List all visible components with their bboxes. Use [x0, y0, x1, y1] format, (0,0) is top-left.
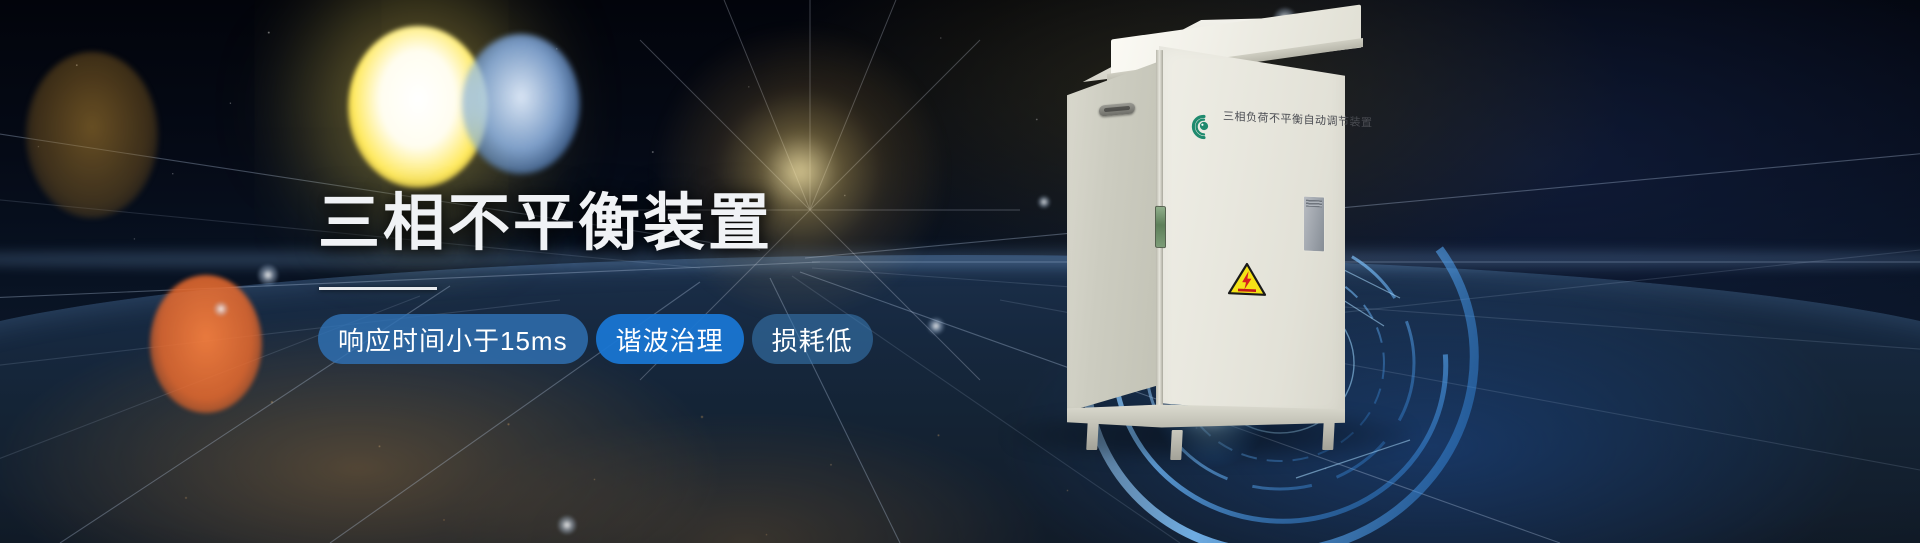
bokeh-orb-amber [26, 52, 158, 218]
feature-tag-list: 响应时间小于15ms 谐波治理 损耗低 [318, 314, 1078, 364]
cabinet-door-latch-icon [1155, 206, 1166, 248]
bokeh-orb-blue [462, 34, 580, 174]
feature-tag-low-loss[interactable]: 损耗低 [752, 314, 873, 364]
light-spark [214, 302, 228, 316]
title-divider [319, 287, 437, 290]
cabinet-leg [1322, 420, 1335, 450]
cabinet-leg [1086, 420, 1099, 450]
bokeh-orb-orange [150, 275, 262, 413]
feature-tag-response-time[interactable]: 响应时间小于15ms [318, 314, 588, 364]
high-voltage-warning-icon [1227, 261, 1267, 297]
brand-logo-icon [1191, 113, 1217, 140]
hero-banner: 三相不平衡装置 响应时间小于15ms 谐波治理 损耗低 三相负荷不平衡自动调节装… [0, 0, 1920, 543]
banner-title: 三相不平衡装置 [318, 193, 1078, 255]
cabinet-leg [1170, 430, 1183, 460]
feature-tag-harmonic-control[interactable]: 谐波治理 [596, 314, 744, 364]
light-spark [558, 516, 576, 534]
product-cabinet: 三相负荷不平衡自动调节装置 [1055, 16, 1365, 436]
cabinet-vent-grille [1303, 196, 1325, 253]
banner-copy: 三相不平衡装置 响应时间小于15ms 谐波治理 损耗低 [318, 193, 1078, 364]
light-spark [258, 265, 278, 285]
